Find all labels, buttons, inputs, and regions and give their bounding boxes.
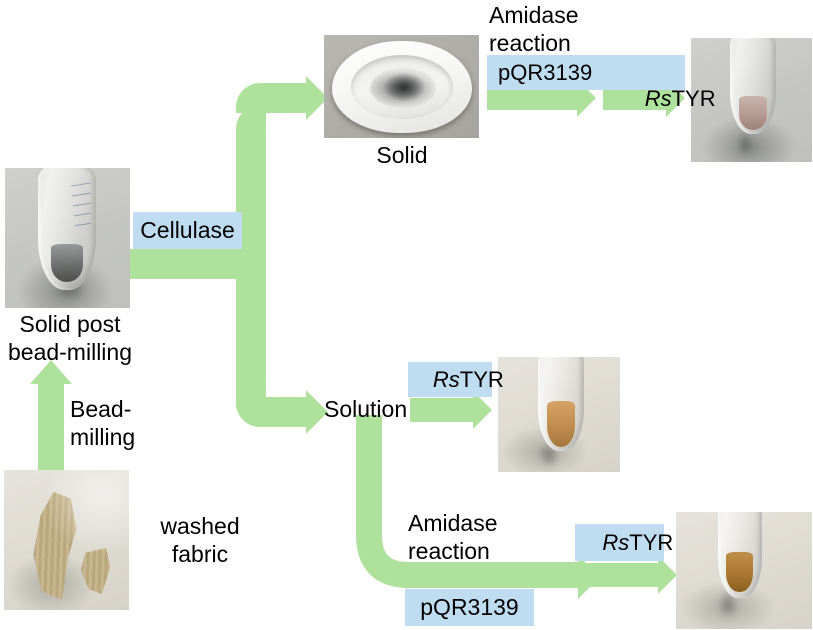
split-trunk (236, 105, 266, 427)
top-enzyme-band: pQR3139 RsTYR (487, 55, 685, 90)
solid-caption: Solid (352, 142, 452, 170)
cellulase-label: Cellulase (133, 212, 242, 249)
rstyr-solution-label: RsTYR (408, 362, 492, 397)
solid-post-bead-milling-photo (5, 168, 130, 308)
rstyr-bottom-label: RsTYR (575, 524, 664, 561)
pqr3139-bottom-text: pQR3139 (420, 594, 518, 621)
solution-amidase-rstyr-tube-photo (676, 512, 812, 629)
cellulase-arrow-shaft (128, 249, 240, 279)
workflow-diagram: Cellulase pQR3139 RsTYR RsTYR pQR3139 Rs… (0, 0, 813, 630)
upper-branch-inner-fill (266, 113, 292, 139)
washed-fabric-photo (4, 470, 129, 610)
cellulase-label-text: Cellulase (140, 217, 235, 244)
amidase-reaction-bottom-caption: Amidase reaction (408, 510, 568, 565)
rstyr-bottom-text: RsTYR (566, 504, 674, 582)
washed-fabric-caption: washed fabric (140, 513, 260, 568)
solid-post-bead-milling-caption: Solid post bead-milling (0, 311, 140, 366)
rstyr-solution-genus: Rs (433, 367, 460, 392)
solution-caption: Solution (324, 396, 419, 424)
rstyr-top-label: RsTYR (608, 60, 716, 138)
solution-rstyr-tube-photo (498, 357, 620, 472)
upper-branch-shaft (236, 83, 308, 113)
rstyr-bottom-genus: Rs (602, 530, 629, 555)
bead-milling-caption: Bead- milling (70, 396, 180, 451)
lower-branch-inner-fill (266, 371, 292, 397)
rstyr-top-suffix: TYR (672, 86, 716, 111)
amidase-reaction-top-caption: Amidase reaction (489, 2, 649, 57)
solid-dish-photo (324, 35, 479, 138)
rstyr-bottom-suffix: TYR (629, 530, 673, 555)
lower-branch-shaft (236, 397, 308, 427)
rstyr-top-genus: Rs (645, 86, 672, 111)
pqr3139-top-label: pQR3139 (498, 60, 592, 86)
rstyr-solution-suffix: TYR (460, 367, 504, 392)
pqr3139-bottom-label: pQR3139 (405, 589, 534, 626)
